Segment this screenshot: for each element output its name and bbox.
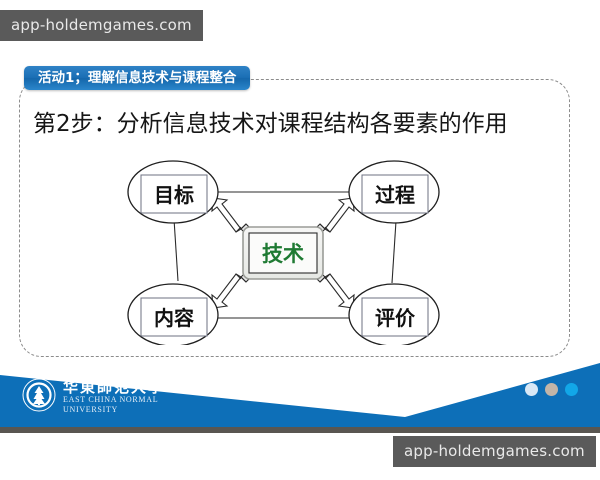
- dot-3: [565, 383, 578, 396]
- watermark-bottom: app-holdemgames.com: [393, 436, 596, 467]
- concept-diagram: 目标 过程 内容 评价: [100, 155, 460, 345]
- node-goal-label: 目标: [154, 183, 194, 207]
- node-assess: 评价: [349, 284, 439, 345]
- node-content: 内容: [128, 284, 218, 345]
- university-seal-icon: [22, 378, 56, 417]
- node-assess-label: 评价: [375, 306, 416, 330]
- dot-1: [525, 383, 538, 396]
- node-process: 过程: [349, 161, 439, 223]
- link-goal-content: [174, 219, 178, 281]
- decorative-dots: [525, 383, 578, 396]
- activity-tag: 活动1；理解信息技术与课程整合: [24, 66, 250, 90]
- page-title: 第2步：分析信息技术对课程结构各要素的作用: [33, 104, 508, 138]
- node-center-technology: 技术: [243, 227, 323, 279]
- node-goal: 目标: [128, 161, 218, 223]
- university-logo-text: 华東師范大學 EAST CHINA NORMAL UNIVERSITY: [63, 378, 165, 415]
- university-logo: 华東師范大學 EAST CHINA NORMAL UNIVERSITY: [22, 378, 165, 417]
- university-name-en-line1: EAST CHINA NORMAL: [63, 395, 165, 405]
- node-process-label: 过程: [375, 183, 415, 207]
- node-center-label: 技术: [262, 242, 304, 266]
- link-process-assess: [392, 221, 396, 283]
- node-content-label: 内容: [154, 306, 194, 330]
- watermark-top: app-holdemgames.com: [0, 10, 203, 41]
- slide-canvas: 华東師范大學 EAST CHINA NORMAL UNIVERSITY 活动1；…: [0, 0, 600, 480]
- university-name-cn: 华東師范大學: [63, 379, 165, 395]
- footer-accent-bar: [0, 427, 600, 433]
- university-name-en-line2: UNIVERSITY: [63, 405, 165, 415]
- dot-2: [545, 383, 558, 396]
